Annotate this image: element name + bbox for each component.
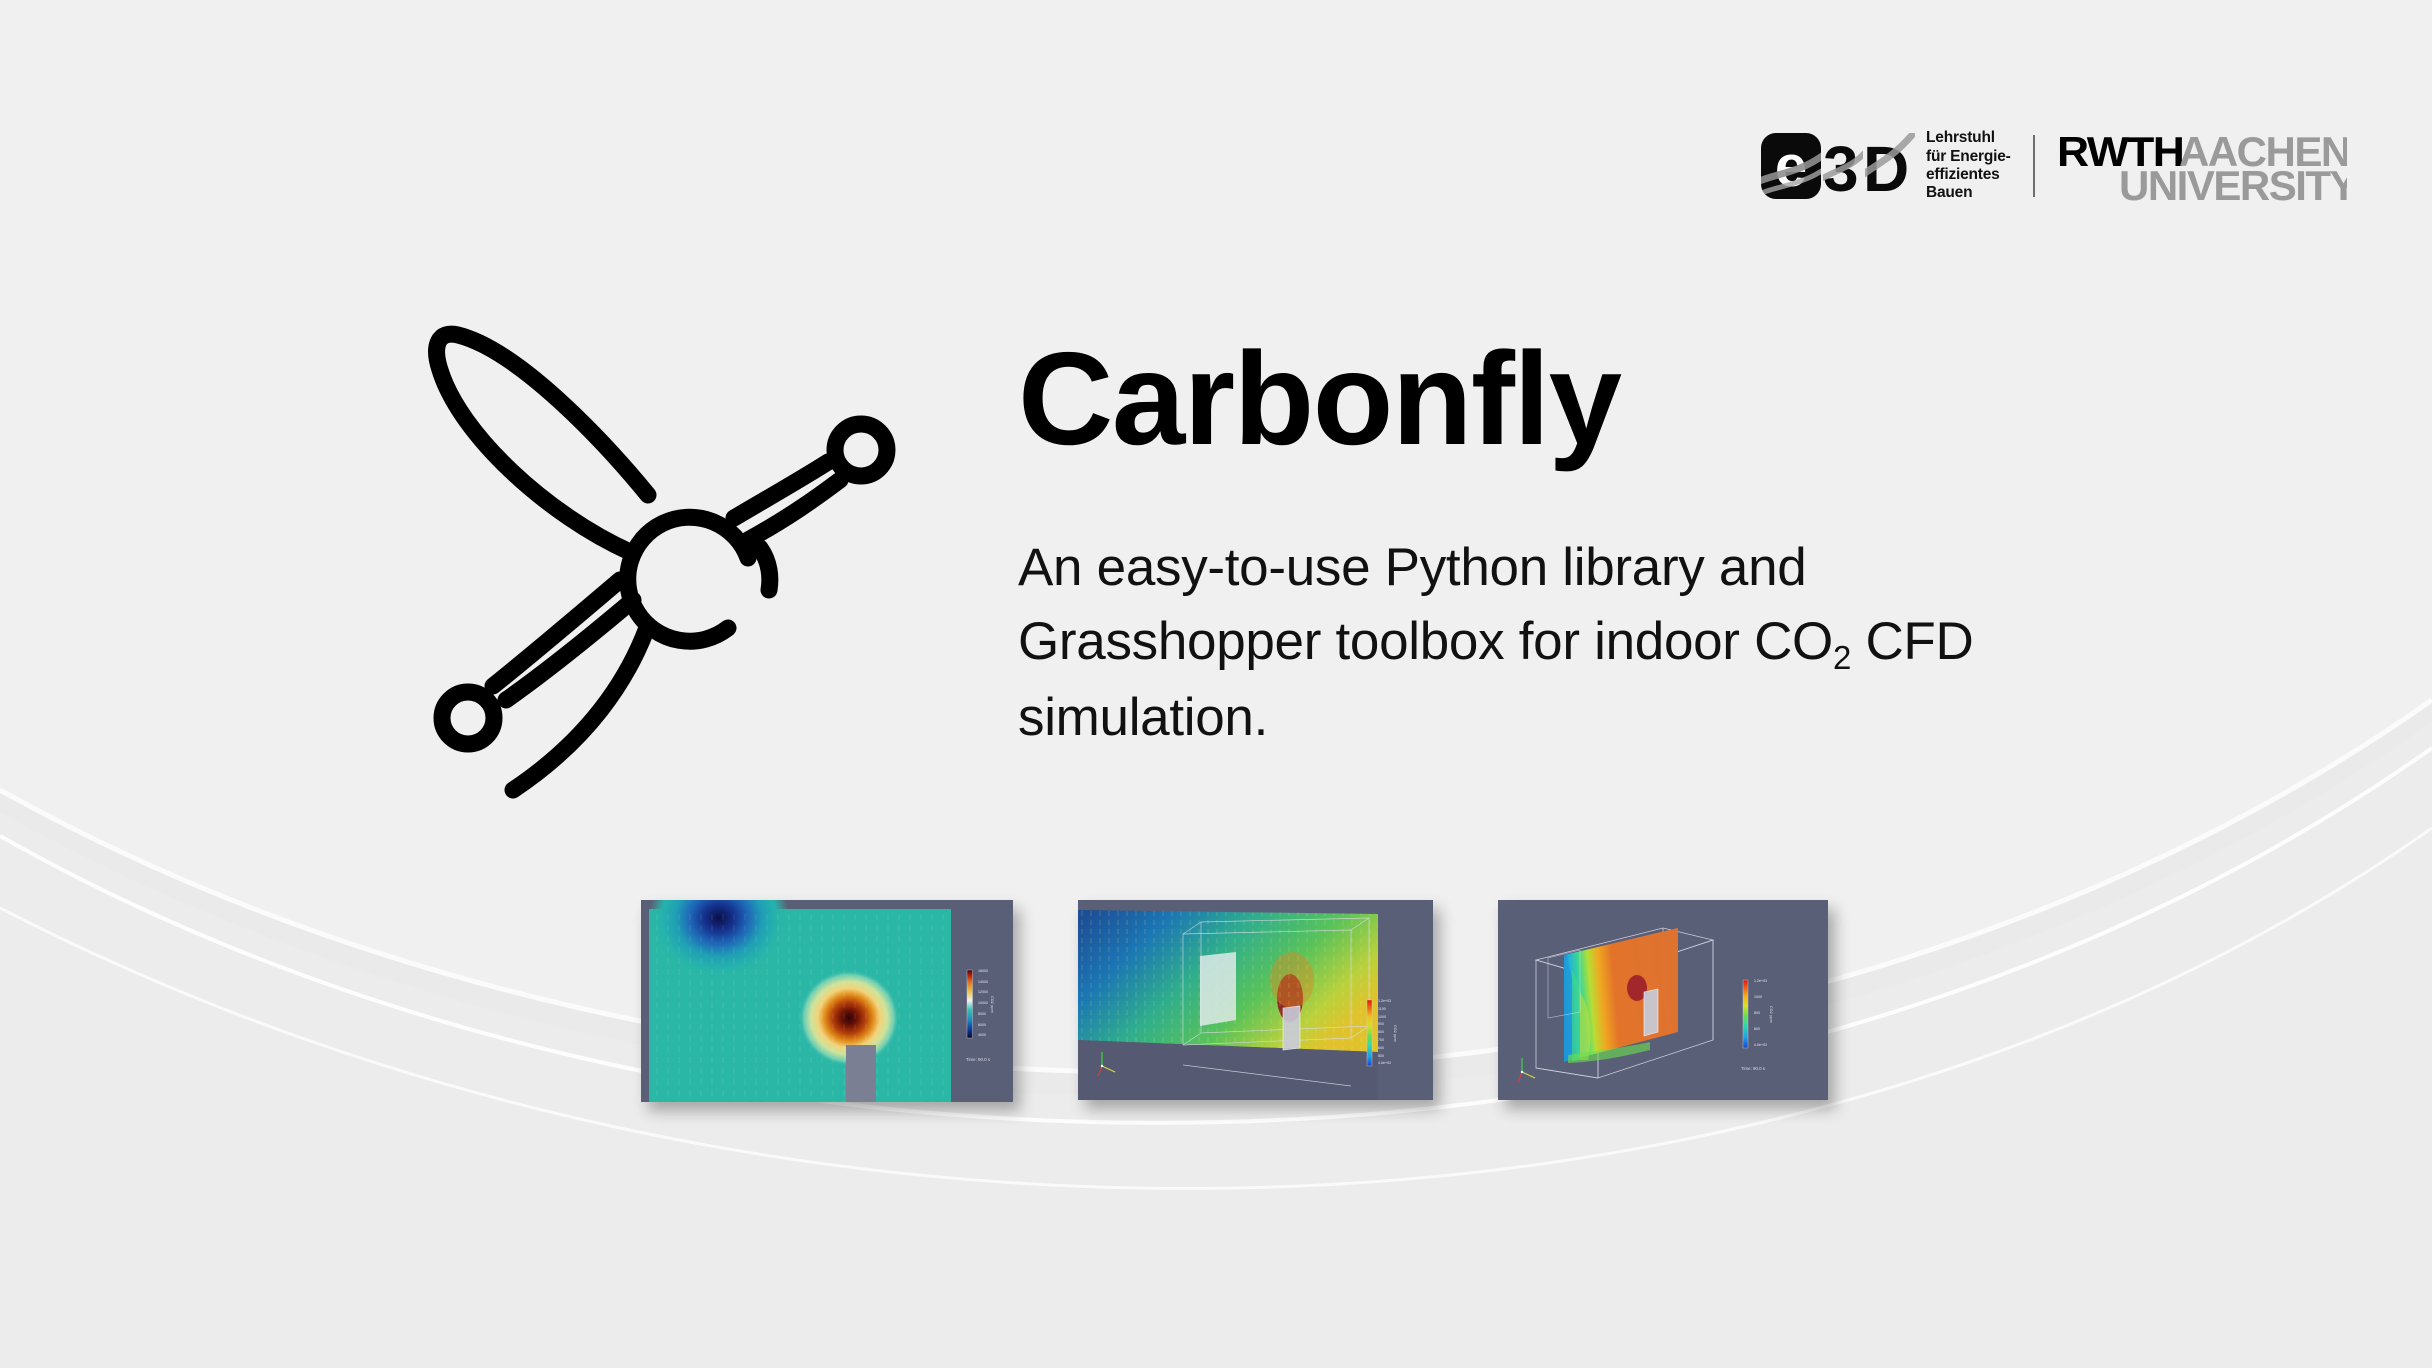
cbar1-tick-6: 4000 bbox=[978, 1034, 988, 1038]
cbar1-tick-2: 12000 bbox=[978, 991, 988, 995]
cbar1-tick-4: 8000 bbox=[978, 1013, 988, 1017]
subtitle-part-1: An easy-to-use Python library and Grassh… bbox=[1018, 538, 1833, 671]
cbar3-tick-2: 800 bbox=[1754, 1012, 1767, 1016]
institution-logo-bar: e 3 D Lehrstuhl für Energie- effizientes… bbox=[1761, 128, 2347, 204]
cfd-2d-colorbar-labels: 16000 14000 12000 10000 8000 6000 4000 C… bbox=[975, 970, 994, 1038]
cfd-3d-vectors-colorbar-ticks: 1.2e+03 1100 1000 900 800 700 600 500 4.… bbox=[1378, 1000, 1391, 1066]
gallery-item-cfd-3d-velocity-vectors[interactable]: 1.2e+03 1100 1000 900 800 700 600 500 4.… bbox=[1078, 900, 1433, 1100]
cfd-2d-time-label: Time: 90.0 s bbox=[966, 1057, 990, 1062]
cbar2-tick-7: 500 bbox=[1378, 1055, 1391, 1059]
cfd-3d-vectors-colorbar-labels: 1.2e+03 1100 1000 900 800 700 600 500 4.… bbox=[1375, 1000, 1397, 1066]
e3d-subtitle-line-3: effizientes bbox=[1926, 166, 2011, 184]
cbar2-tick-4: 800 bbox=[1378, 1031, 1391, 1035]
cbar1-tick-5: 6000 bbox=[978, 1024, 988, 1028]
gallery-item-cfd-2d-contour-slice[interactable]: 16000 14000 12000 10000 8000 6000 4000 C… bbox=[641, 900, 1013, 1102]
cbar3-tick-1: 1000 bbox=[1754, 996, 1767, 1000]
cfd-2d-colorbar-ticks: 16000 14000 12000 10000 8000 6000 4000 bbox=[978, 970, 988, 1038]
cbar2-tick-8: 4.0e+02 bbox=[1378, 1062, 1391, 1066]
cfd-3d-vectors-colorbar-title: CO2 ppm bbox=[1393, 1025, 1397, 1042]
cfd-3d-room-colorbar-title: CO2 ppm bbox=[1769, 1006, 1773, 1023]
cfd-3d-room-colorbar-ticks: 1.2e+03 1000 800 600 4.0e+02 bbox=[1754, 980, 1767, 1048]
cbar3-tick-3: 600 bbox=[1754, 1028, 1767, 1032]
cbar1-tick-3: 10000 bbox=[978, 1002, 988, 1006]
cbar1-tick-0: 16000 bbox=[978, 970, 988, 974]
rwth-tertiary-text: UNIVERSITY bbox=[2119, 162, 2347, 202]
page-title: Carbonfly bbox=[1018, 333, 2028, 465]
e3d-subtitle-line-1: Lehrstuhl bbox=[1926, 129, 2011, 147]
cbar2-tick-0: 1.2e+03 bbox=[1378, 1000, 1391, 1004]
dragonfly-icon bbox=[398, 290, 918, 810]
cfd-screenshot-gallery: 16000 14000 12000 10000 8000 6000 4000 C… bbox=[641, 900, 1828, 1102]
logo-divider bbox=[2033, 135, 2035, 197]
cbar3-tick-0: 1.2e+03 bbox=[1754, 980, 1767, 984]
cbar3-tick-4: 4.0e+02 bbox=[1754, 1044, 1767, 1048]
cbar2-tick-6: 600 bbox=[1378, 1047, 1391, 1051]
hero-text-block: Carbonfly An easy-to-use Python library … bbox=[1018, 333, 2028, 755]
cbar2-tick-1: 1100 bbox=[1378, 1008, 1391, 1012]
subtitle-subscript: 2 bbox=[1833, 639, 1851, 676]
e3d-subtitle-line-4: Bauen bbox=[1926, 184, 2011, 202]
e3d-logo-subtitle: Lehrstuhl für Energie- effizientes Bauen bbox=[1926, 129, 2011, 202]
e3d-subtitle-line-2: für Energie- bbox=[1926, 148, 2011, 166]
rwth-aachen-university-logo: RWTH AACHEN UNIVERSITY bbox=[2057, 130, 2347, 202]
page-subtitle: An easy-to-use Python library and Grassh… bbox=[1018, 531, 2028, 755]
cbar2-tick-3: 900 bbox=[1378, 1023, 1391, 1027]
cbar2-tick-2: 1000 bbox=[1378, 1016, 1391, 1020]
cfd-2d-contour-canvas bbox=[641, 900, 1013, 1102]
cfd-3d-room-colorbar-labels: 1.2e+03 1000 800 600 4.0e+02 CO2 ppm bbox=[1751, 980, 1773, 1048]
cbar2-tick-5: 700 bbox=[1378, 1039, 1391, 1043]
cfd-3d-room-time-label: Time: 90.0 s bbox=[1741, 1066, 1765, 1071]
cbar1-tick-1: 14000 bbox=[978, 981, 988, 985]
cfd-3d-room-canvas bbox=[1498, 900, 1828, 1100]
e3d-logo-icon: e 3 D bbox=[1761, 133, 1915, 199]
cfd-2d-colorbar-title: CO2 ppm bbox=[990, 996, 994, 1013]
gallery-item-cfd-3d-room-concentration[interactable]: 1.2e+03 1000 800 600 4.0e+02 CO2 ppm Tim… bbox=[1498, 900, 1828, 1100]
cfd-2d-colorbar bbox=[967, 970, 973, 1038]
